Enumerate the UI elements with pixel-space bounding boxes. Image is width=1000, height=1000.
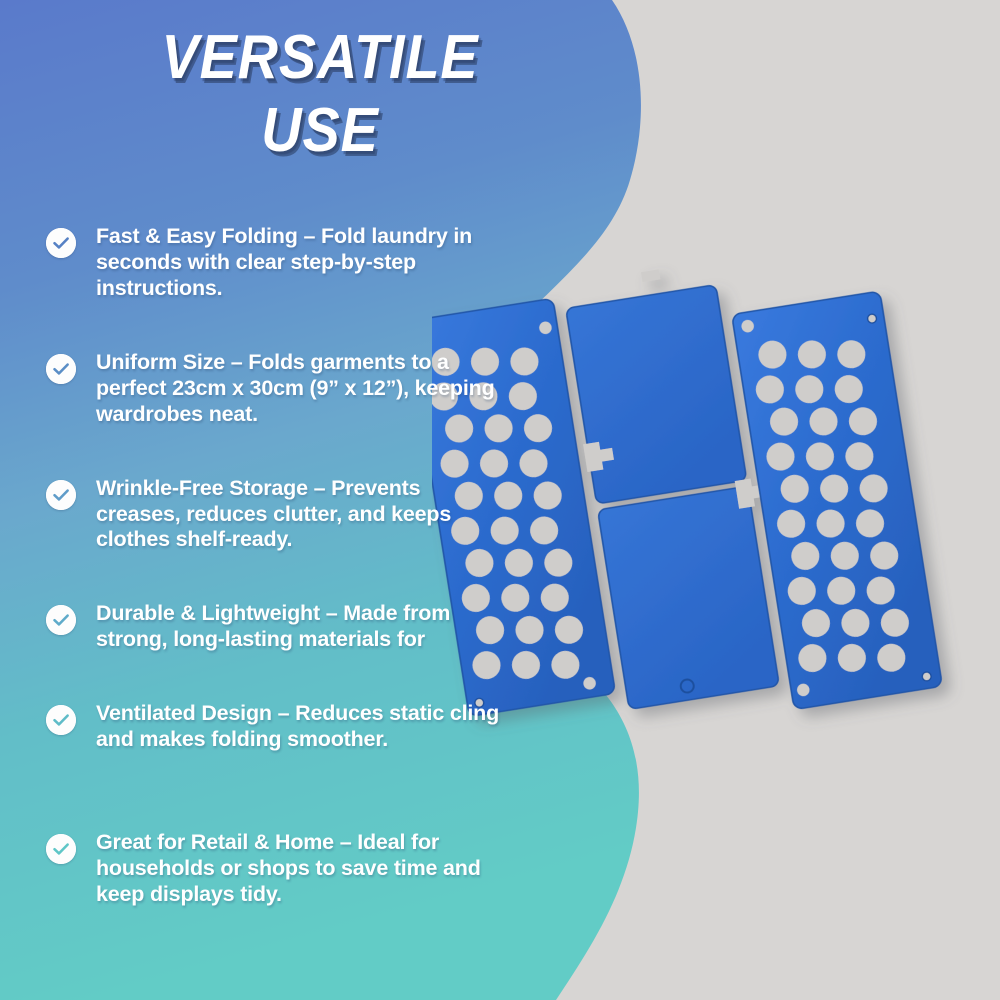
infographic-canvas: VERSATILE USE Fast & Easy Folding – Fold… bbox=[0, 0, 1000, 1000]
list-item-label: Durable & Lightweight – Made from strong… bbox=[96, 601, 506, 653]
list-item-durable-lightweight: Durable & Lightweight – Made from strong… bbox=[46, 601, 506, 653]
check-circle-icon bbox=[46, 480, 76, 510]
list-item-label: Ventilated Design – Reduces static cling… bbox=[96, 701, 506, 753]
check-circle-icon bbox=[46, 834, 76, 864]
list-item-fast-easy-folding: Fast & Easy Folding – Fold laundry in se… bbox=[46, 224, 506, 301]
center-bottom-plate bbox=[598, 486, 780, 709]
list-item-label: Wrinkle-Free Storage – Prevents creases,… bbox=[96, 476, 506, 553]
right-wing-pin-tr bbox=[867, 314, 877, 324]
board-group bbox=[432, 250, 942, 760]
feature-list: Fast & Easy Folding – Fold laundry in se… bbox=[46, 224, 506, 908]
list-item-ventilated-design: Ventilated Design – Reduces static cling… bbox=[46, 701, 506, 753]
list-item-wrinkle-free-storage: Wrinkle-Free Storage – Prevents creases,… bbox=[46, 476, 506, 553]
list-item-uniform-size: Uniform Size – Folds garments to a perfe… bbox=[46, 350, 506, 427]
product-svg bbox=[432, 250, 992, 770]
right-wing-pin-br bbox=[922, 671, 932, 681]
panel-center-bottom bbox=[598, 486, 780, 709]
list-item-label: Fast & Easy Folding – Fold laundry in se… bbox=[96, 224, 506, 301]
hinge-top-notch bbox=[641, 269, 660, 282]
list-item-label: Uniform Size – Folds garments to a perfe… bbox=[96, 350, 506, 427]
product-image-laundry-folding-board bbox=[432, 250, 992, 770]
check-circle-icon bbox=[46, 354, 76, 384]
check-circle-icon bbox=[46, 705, 76, 735]
list-item-label: Great for Retail & Home – Ideal for hous… bbox=[96, 830, 506, 907]
list-item-great-for-retail-home: Great for Retail & Home – Ideal for hous… bbox=[46, 830, 506, 907]
check-circle-icon bbox=[46, 228, 76, 258]
check-circle-icon bbox=[46, 605, 76, 635]
